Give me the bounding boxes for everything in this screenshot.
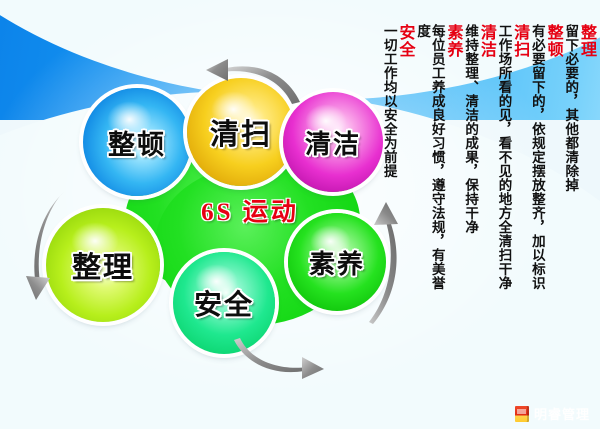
text-column-body: 维持整理、清洁的成果，保持干净 bbox=[463, 24, 478, 234]
text-column-body: 一切工作均以安全为前提 bbox=[381, 24, 396, 178]
text-column-body: 留下必要的，其他都清除掉 bbox=[563, 24, 578, 192]
circle-zhengdun[interactable]: 整顿 bbox=[83, 88, 191, 196]
arrow-left-icon bbox=[10, 190, 66, 316]
circle-label-qingsao: 清扫 bbox=[210, 111, 272, 153]
text-column-title: 整顿 bbox=[544, 24, 561, 58]
circle-label-zhengli: 整理 bbox=[72, 244, 134, 286]
text-column-title: 素养 bbox=[444, 24, 461, 58]
circle-qingjie[interactable]: 清洁 bbox=[283, 92, 383, 192]
arrow-top-left-icon bbox=[182, 58, 304, 106]
text-column-qingjie: 清洁 维持整理、清洁的成果，保持干净 bbox=[463, 24, 494, 234]
circle-label-qingjie: 清洁 bbox=[305, 124, 361, 161]
poster-canvas: 整顿 清扫 清洁 素养 安全 整理 6S 运动 整理 留下必要的，其他都清除掉 … bbox=[0, 0, 600, 429]
text-column-title: 安全 bbox=[396, 24, 413, 58]
text-column-body: 每位员工养成良好习惯，遵守法规，有美誉度 bbox=[415, 24, 444, 299]
text-column-title: 清扫 bbox=[510, 24, 527, 58]
circle-label-suyang: 素养 bbox=[309, 244, 365, 281]
vertical-text-panel: 整理 留下必要的，其他都清除掉 整顿 有必要留下的，依规定摆放整齐，加以标识 清… bbox=[379, 24, 594, 299]
center-title: 6S 运动 bbox=[160, 192, 340, 228]
text-column-title: 整理 bbox=[577, 24, 594, 58]
text-column-body: 有必要留下的，依规定摆放整齐，加以标识 bbox=[529, 24, 544, 290]
text-column-body: 工作场所看的见，看不见的地方全清扫干净 bbox=[496, 24, 511, 290]
text-column-zhengli: 整理 留下必要的，其他都清除掉 bbox=[563, 24, 594, 192]
text-column-title: 清洁 bbox=[477, 24, 494, 58]
circle-label-anquan: 安全 bbox=[194, 283, 254, 323]
arrow-bottom-icon bbox=[232, 338, 342, 382]
text-column-suyang: 素养 每位员工养成良好习惯，遵守法规，有美誉度 bbox=[415, 24, 461, 299]
book-icon bbox=[515, 406, 529, 422]
text-column-qingsao: 清扫 工作场所看的见，看不见的地方全清扫干净 bbox=[496, 24, 527, 290]
watermark: 明睿管理 bbox=[515, 404, 590, 423]
circle-label-zhengdun: 整顿 bbox=[108, 123, 166, 162]
watermark-label: 明睿管理 bbox=[534, 404, 590, 423]
text-column-zhengdun: 整顿 有必要留下的，依规定摆放整齐，加以标识 bbox=[529, 24, 560, 290]
text-column-anquan: 安全 一切工作均以安全为前提 bbox=[381, 24, 412, 178]
